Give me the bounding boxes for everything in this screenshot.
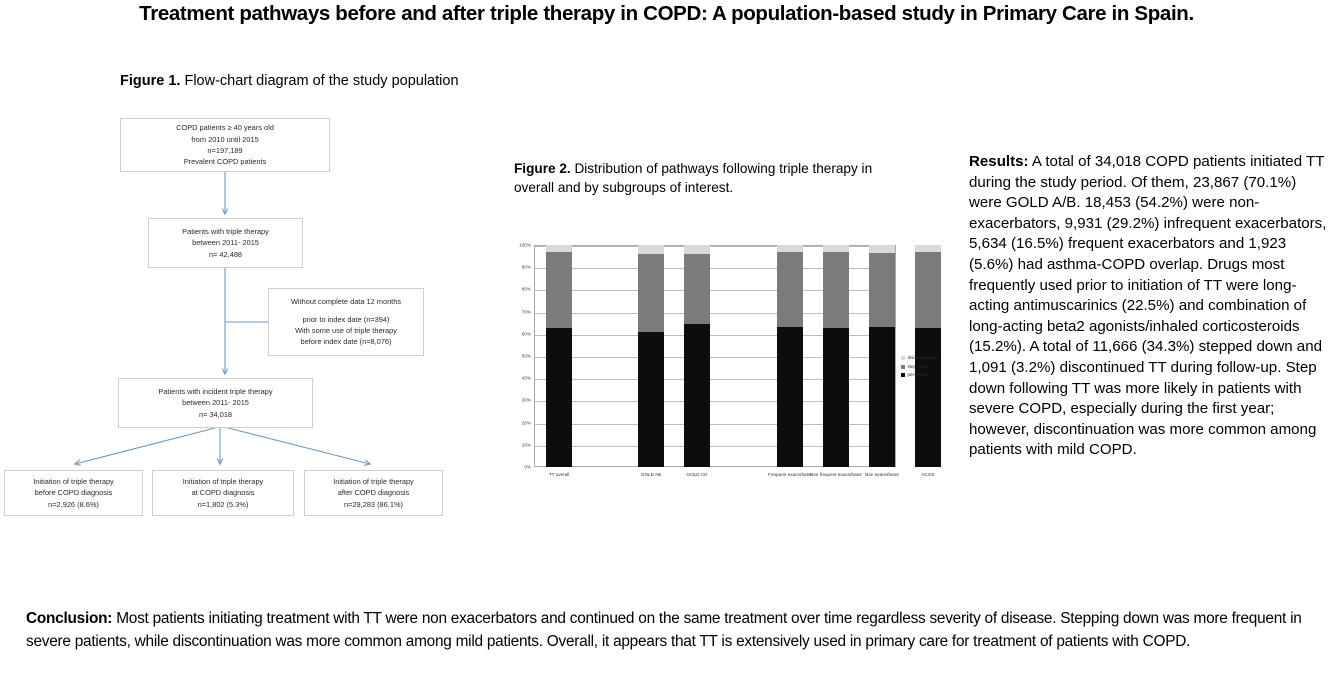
- after-diagnosis-line-3: n=29,283 (86.1%): [344, 499, 403, 510]
- y-axis-tick-label: 90%: [522, 265, 531, 270]
- before-diagnosis-line-1: Initiation of triple therapy: [33, 476, 114, 487]
- at-diagnosis-line-3: n=1,802 (5.3%): [198, 499, 249, 510]
- conclusion-panel: Conclusion: Most patients initiating tre…: [26, 608, 1316, 653]
- chart-bar-segment-discontinuation: [546, 245, 572, 252]
- legend-item: persistent: [901, 371, 938, 380]
- before-diagnosis-line-3: n=2,926 (8.6%): [48, 499, 99, 510]
- triple-therapy-line-2: between 2011- 2015: [192, 237, 259, 248]
- chart-bar-segment-discontinuation: [638, 245, 664, 254]
- triple-therapy-line-3: n= 42,488: [209, 249, 242, 260]
- conclusion-label: Conclusion:: [26, 610, 112, 627]
- figure1-flowchart: COPD patients ≥ 40 years old from 2010 u…: [0, 110, 470, 530]
- chart-bar-segment-persistent: [869, 327, 895, 467]
- y-axis-tick-label: 40%: [522, 376, 531, 381]
- chart-bar-segment-step-down: [638, 254, 664, 332]
- legend-label: discontinuation: [908, 354, 938, 363]
- chart-bar: [777, 245, 803, 467]
- y-axis-tick-label: 50%: [522, 354, 531, 359]
- flowchart-box-after-diagnosis: Initiation of triple therapy after COPD …: [304, 470, 443, 516]
- chart-bar-segment-persistent: [546, 328, 572, 467]
- figure1-caption: Figure 1. Flow-chart diagram of the stud…: [120, 72, 459, 91]
- exclusions-line-3: With some use of triple therapy: [295, 325, 397, 336]
- chart-bar: [823, 245, 849, 467]
- incident-line-2: between 2011- 2015: [182, 397, 249, 408]
- chart-bar-segment-persistent: [777, 327, 803, 467]
- chart-legend: discontinuationstep downpersistent: [901, 354, 938, 380]
- x-axis-tick-label: GOLD CD: [667, 472, 727, 479]
- chart-bar-segment-persistent: [684, 324, 710, 467]
- flowchart-box-incident: Patients with incident triple therapy be…: [118, 378, 313, 428]
- after-diagnosis-line-1: Initiation of triple therapy: [333, 476, 414, 487]
- chart-bar-segment-discontinuation: [915, 245, 941, 252]
- conclusion-text: Most patients initiating treatment with …: [26, 610, 1302, 650]
- chart-bar-segment-persistent: [915, 328, 941, 467]
- chart-bar-segment-persistent: [638, 332, 664, 467]
- legend-item: discontinuation: [901, 354, 938, 363]
- chart-bar-segment-step-down: [869, 253, 895, 327]
- at-diagnosis-line-2: at COPD diagnosis: [192, 487, 255, 498]
- x-axis-tick-label: ACOS: [898, 472, 958, 479]
- flowchart-box-triple-therapy: Patients with triple therapy between 201…: [148, 218, 303, 268]
- chart-bar-segment-step-down: [684, 254, 710, 324]
- before-diagnosis-line-2: before COPD diagnosis: [35, 487, 113, 498]
- chart-bar-segment-step-down: [546, 252, 572, 328]
- legend-label: persistent: [908, 371, 928, 380]
- incident-line-1: Patients with incident triple therapy: [158, 386, 272, 397]
- triple-therapy-line-1: Patients with triple therapy: [182, 226, 269, 237]
- legend-swatch-icon: [901, 373, 905, 377]
- at-diagnosis-line-1: Initiation of triple therapy: [183, 476, 264, 487]
- population-line-3: n=197,189: [207, 145, 242, 156]
- chart-bar: [869, 245, 895, 467]
- results-text: A total of 34,018 COPD patients initiate…: [969, 153, 1326, 458]
- chart-bar-segment-step-down: [777, 252, 803, 327]
- figure1-label: Figure 1.: [120, 73, 180, 89]
- incident-line-3: n= 34,018: [199, 409, 232, 420]
- flowchart-box-at-diagnosis: Initiation of triple therapy at COPD dia…: [152, 470, 294, 516]
- population-line-1: COPD patients ≥ 40 years old: [176, 122, 274, 133]
- legend-item: step down: [901, 363, 938, 372]
- page-title: Treatment pathways before and after trip…: [0, 2, 1333, 27]
- flowchart-box-population: COPD patients ≥ 40 years old from 2010 u…: [120, 118, 330, 172]
- population-line-4: Prevalent COPD patients: [184, 156, 267, 167]
- figure2-label: Figure 2.: [514, 161, 571, 176]
- chart-bar-segment-step-down: [915, 252, 941, 329]
- chart-bar-segment-discontinuation: [777, 245, 803, 252]
- chart-bar: [638, 245, 664, 467]
- figure2-caption: Figure 2. Distribution of pathways follo…: [514, 160, 914, 198]
- population-line-2: from 2010 until 2015: [191, 134, 258, 145]
- after-diagnosis-line-2: after COPD diagnosis: [338, 487, 409, 498]
- legend-swatch-icon: [901, 356, 905, 360]
- legend-label: step down: [908, 363, 929, 372]
- exclusions-line-1: Without complete data 12 months: [291, 296, 401, 307]
- x-axis-tick-label: TT overall: [529, 472, 589, 479]
- chart-bar: [546, 245, 572, 467]
- exclusions-line-4: before index date (n=8,076): [300, 336, 391, 347]
- y-axis-tick-label: 70%: [522, 309, 531, 314]
- results-panel: Results: A total of 34,018 COPD patients…: [969, 152, 1329, 461]
- y-axis-tick-label: 60%: [522, 331, 531, 336]
- y-axis-tick-label: 80%: [522, 287, 531, 292]
- flowchart-box-before-diagnosis: Initiation of triple therapy before COPD…: [4, 470, 143, 516]
- flowchart-box-exclusions: Without complete data 12 months prior to…: [268, 288, 424, 356]
- chart-bar: [684, 245, 710, 467]
- chart-bar-segment-discontinuation: [684, 245, 710, 254]
- chart-bar-segment-discontinuation: [869, 245, 895, 253]
- y-axis-tick-label: 20%: [522, 420, 531, 425]
- chart-bar-segment-persistent: [823, 328, 849, 467]
- y-axis-tick-label: 100%: [519, 243, 531, 248]
- figure1-caption-text: Flow-chart diagram of the study populati…: [184, 73, 458, 89]
- chart-bar-segment-step-down: [823, 252, 849, 329]
- chart-bar-segment-discontinuation: [823, 245, 849, 252]
- y-axis-tick-label: 10%: [522, 442, 531, 447]
- y-axis-tick-label: 30%: [522, 398, 531, 403]
- exclusions-line-2: prior to index date (n=394): [303, 314, 390, 325]
- figure2-chart: 0%10%20%30%40%50%60%70%80%90%100% TT ove…: [505, 240, 960, 490]
- y-axis-tick-label: 0%: [524, 465, 531, 470]
- legend-swatch-icon: [901, 365, 905, 369]
- results-label: Results:: [969, 153, 1029, 170]
